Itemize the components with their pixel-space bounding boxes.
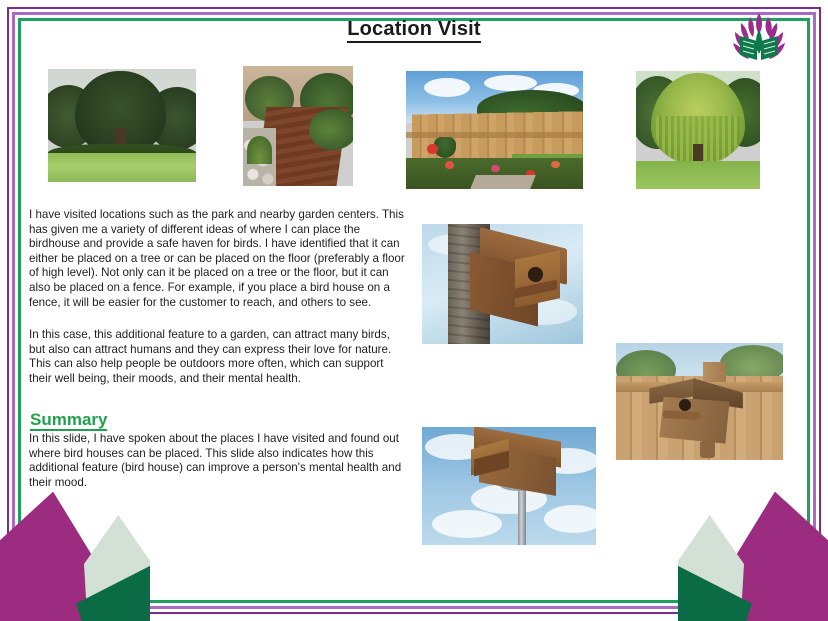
slide-title-text: Location Visit	[347, 18, 481, 43]
school-crest-logo	[728, 10, 790, 68]
slide-canvas: Location Visit	[0, 0, 828, 621]
photo-birdhouse-pole	[422, 427, 596, 545]
paragraph-summary: In this slide, I have spoken about the p…	[29, 432, 411, 490]
photo-garden-decking	[243, 66, 353, 186]
corner-petal-ornament-right	[678, 491, 828, 621]
photo-weeping-willow	[636, 71, 760, 189]
photo-birdhouse-tree	[422, 224, 583, 344]
photo-park-tree	[48, 69, 196, 182]
slide-title: Location Visit	[0, 18, 828, 41]
summary-heading: Summary	[30, 410, 107, 430]
photo-birdhouse-fence	[616, 343, 783, 460]
photo-garden-fence	[406, 71, 583, 189]
paragraph-locations: I have visited locations such as the par…	[29, 208, 407, 310]
summary-heading-text: Summary	[30, 410, 107, 431]
corner-petal-ornament-left	[0, 491, 150, 621]
crest-icon	[728, 10, 790, 68]
paragraph-benefits: In this case, this additional feature to…	[29, 328, 407, 386]
